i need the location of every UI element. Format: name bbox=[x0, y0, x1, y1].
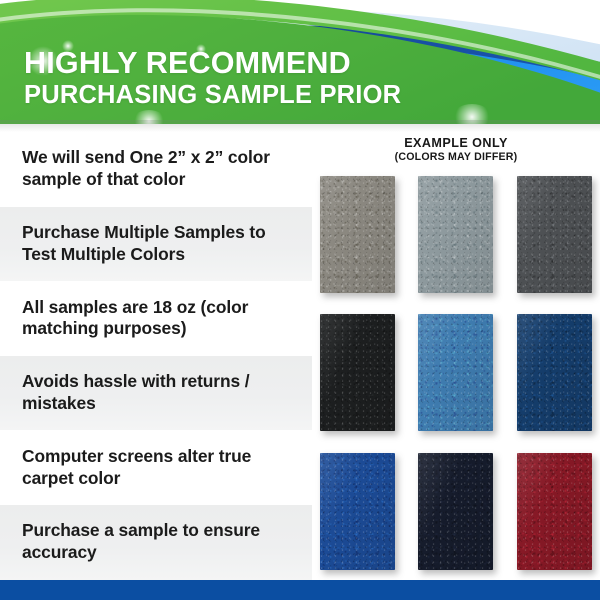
swatch-pile-edge bbox=[320, 314, 395, 431]
carpet-swatch-dark-navy bbox=[418, 453, 493, 570]
carpet-swatch-blue-gray bbox=[418, 176, 493, 293]
swatch-pile-edge bbox=[320, 176, 395, 293]
list-item-label: All samples are 18 oz (color matching pu… bbox=[22, 297, 298, 341]
carpet-swatch-black bbox=[320, 314, 395, 431]
header-banner: HIGHLY RECOMMEND PURCHASING SAMPLE PRIOR bbox=[0, 0, 600, 132]
swatch-pile-edge bbox=[418, 176, 493, 293]
list-item: We will send One 2” x 2” color sample of… bbox=[0, 132, 312, 207]
carpet-swatch-medium-blue bbox=[418, 314, 493, 431]
swatch-cell bbox=[316, 445, 399, 578]
swatch-pile-edge bbox=[517, 314, 592, 431]
banner-title-line2: PURCHASING SAMPLE PRIOR bbox=[24, 83, 484, 109]
list-item-label: Computer screens alter true carpet color bbox=[22, 446, 298, 490]
list-item-label: We will send One 2” x 2” color sample of… bbox=[22, 147, 298, 191]
swatch-cell bbox=[513, 307, 596, 440]
promo-graphic: HIGHLY RECOMMEND PURCHASING SAMPLE PRIOR… bbox=[0, 0, 600, 600]
carpet-swatch-dark-red bbox=[517, 453, 592, 570]
banner-title-line1: HIGHLY RECOMMEND bbox=[24, 48, 484, 79]
carpet-swatch-navy-blue bbox=[517, 314, 592, 431]
list-item-label: Avoids hassle with returns / mistakes bbox=[22, 371, 298, 415]
benefit-list: We will send One 2” x 2” color sample of… bbox=[0, 132, 312, 580]
list-item: Purchase a sample to ensure accuracy bbox=[0, 505, 312, 580]
carpet-swatch-charcoal-gray bbox=[517, 176, 592, 293]
list-item: Computer screens alter true carpet color bbox=[0, 430, 312, 505]
swatch-pile-edge bbox=[418, 314, 493, 431]
swatch-pile-edge bbox=[418, 453, 493, 570]
swatch-cell bbox=[414, 445, 497, 578]
list-item: Avoids hassle with returns / mistakes bbox=[0, 356, 312, 431]
bottom-accent-bar bbox=[0, 580, 600, 600]
banner-title: HIGHLY RECOMMEND PURCHASING SAMPLE PRIOR bbox=[24, 48, 484, 108]
list-item-label: Purchase a sample to ensure accuracy bbox=[22, 520, 298, 564]
swatch-cell bbox=[513, 445, 596, 578]
swatch-cell bbox=[414, 168, 497, 301]
swatch-pile-edge bbox=[517, 176, 592, 293]
carpet-swatch-grid bbox=[312, 168, 600, 578]
swatch-cell bbox=[316, 168, 399, 301]
carpet-swatch-warm-gray bbox=[320, 176, 395, 293]
swatch-cell bbox=[513, 168, 596, 301]
example-only-subtitle: (COLORS MAY DIFFER) bbox=[312, 151, 600, 163]
list-item: Purchase Multiple Samples to Test Multip… bbox=[0, 207, 312, 282]
carpet-swatch-royal-blue bbox=[320, 453, 395, 570]
list-item: All samples are 18 oz (color matching pu… bbox=[0, 281, 312, 356]
swatch-cell bbox=[414, 307, 497, 440]
list-item-label: Purchase Multiple Samples to Test Multip… bbox=[22, 222, 298, 266]
swatch-cell bbox=[316, 307, 399, 440]
example-only-title: EXAMPLE ONLY bbox=[312, 136, 600, 150]
swatch-pile-edge bbox=[517, 453, 592, 570]
example-only-caption: EXAMPLE ONLY (COLORS MAY DIFFER) bbox=[312, 136, 600, 163]
swatch-pile-edge bbox=[320, 453, 395, 570]
